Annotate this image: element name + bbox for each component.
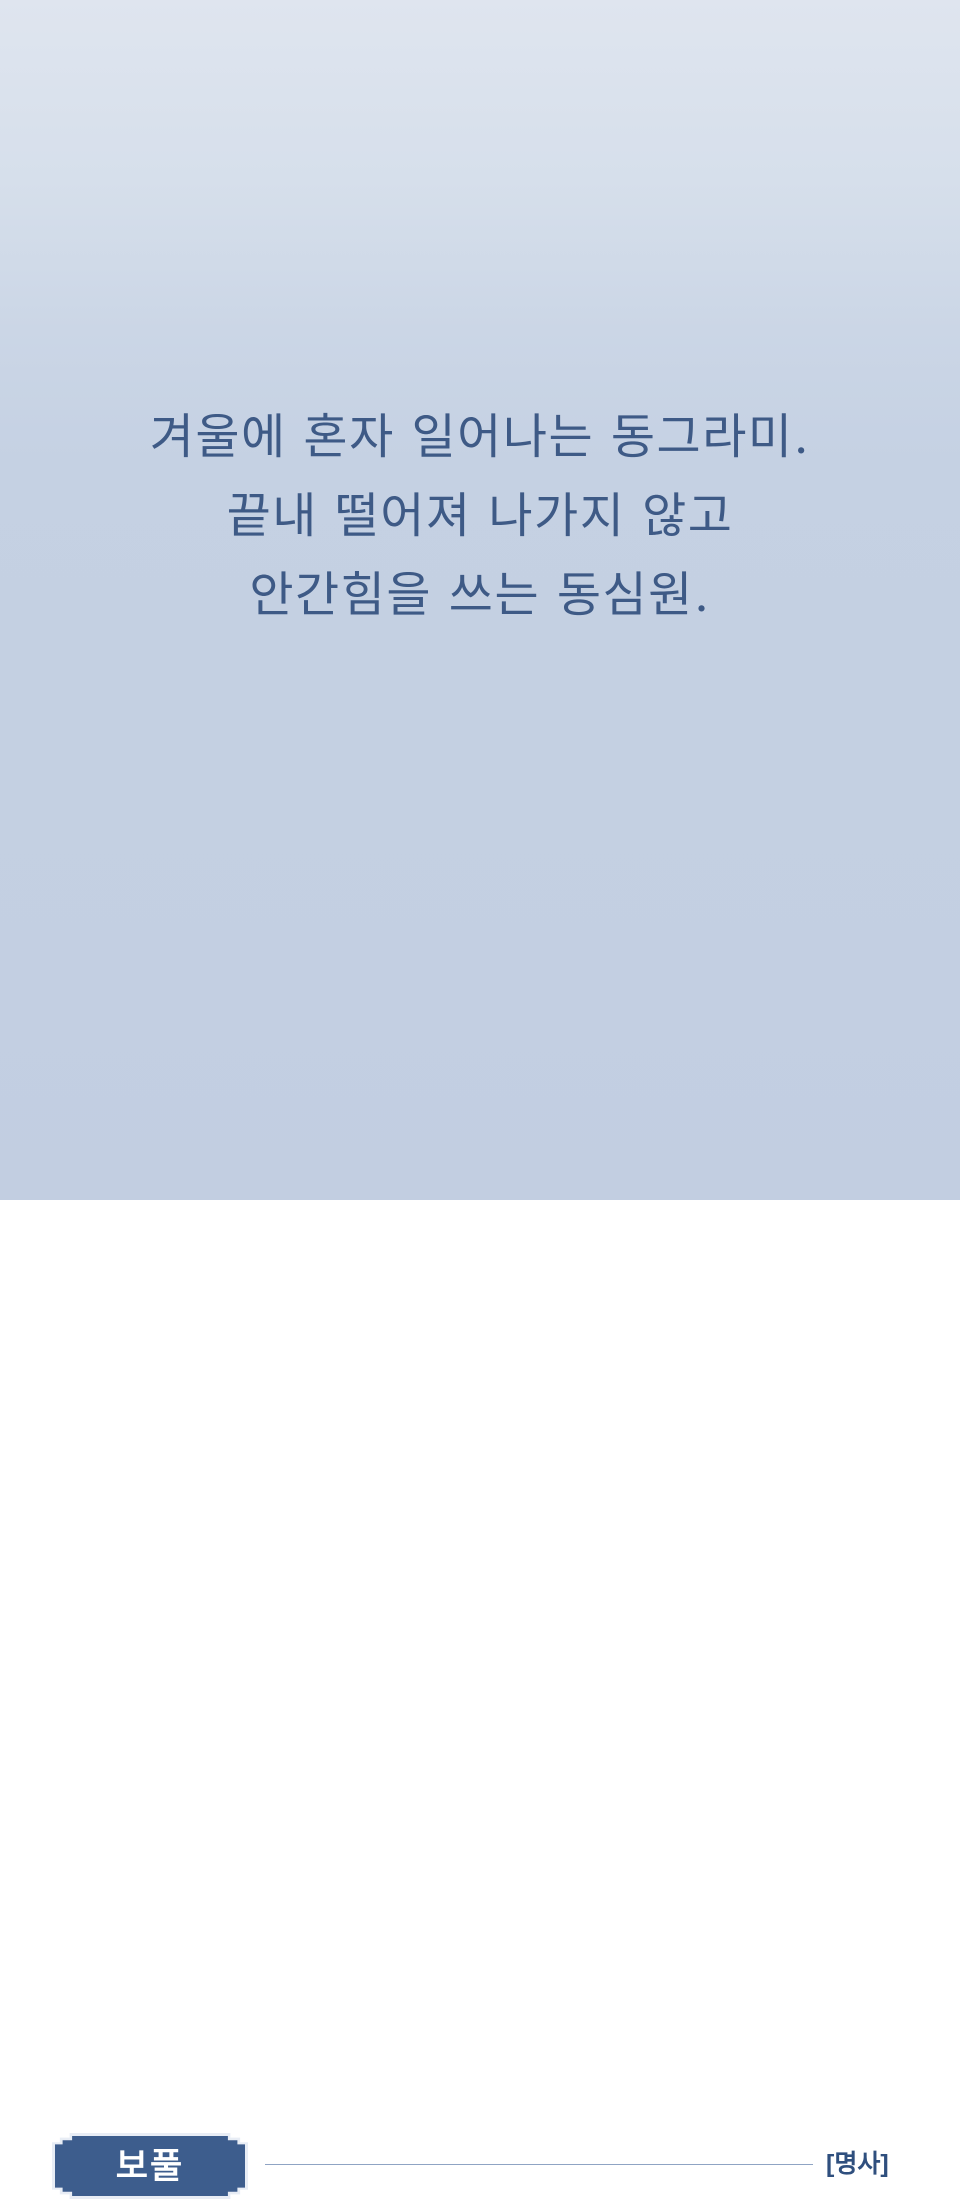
- footer-divider: [265, 2164, 813, 2165]
- quote-line-3: 안간힘을 쓰는 동심원.: [0, 556, 960, 635]
- part-of-speech-tag: [명사]: [826, 2147, 889, 2181]
- badge-word-label: 보풀: [116, 2149, 184, 2184]
- quote-line-2: 끝내 떨어져 나가지 않고: [0, 477, 960, 556]
- word-badge: 보풀: [52, 2133, 248, 2199]
- badge-fill: 보풀: [55, 2136, 245, 2196]
- definition-card: 겨울에 혼자 일어나는 동그라미. 끝내 떨어져 나가지 않고 안간힘을 쓰는 …: [0, 0, 960, 1200]
- card-footer: 보풀 [명사]: [0, 1050, 960, 1200]
- quote-line-1: 겨울에 혼자 일어나는 동그라미.: [0, 398, 960, 477]
- quote-text: 겨울에 혼자 일어나는 동그라미. 끝내 떨어져 나가지 않고 안간힘을 쓰는 …: [0, 398, 960, 635]
